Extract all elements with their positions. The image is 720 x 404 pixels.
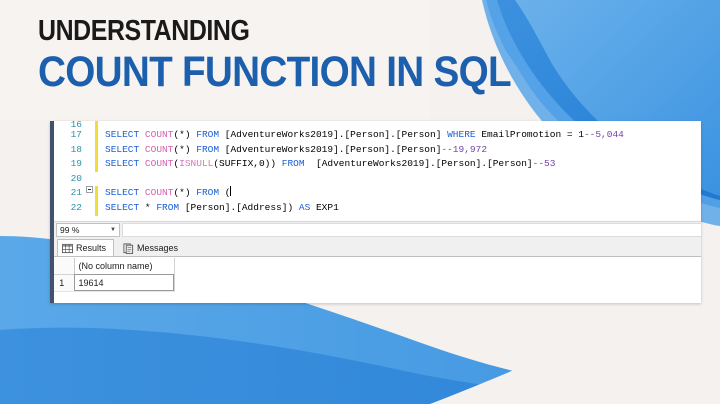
code-token: SELECT [105,144,145,155]
code-line[interactable]: 22SELECT * FROM [Person].[Address]) AS E… [54,201,701,216]
chevron-down-icon: ▼ [110,227,119,233]
zoom-level-value: 99 % [60,225,79,235]
tab-messages-label: Messages [137,243,178,253]
slide-canvas: UNDERSTANDING COUNT FUNCTION IN SQL 1617… [0,0,720,404]
code-token: SELECT [105,158,145,169]
tab-messages[interactable]: Messages [118,239,186,256]
code-token: --53 [533,158,556,169]
tab-results-label: Results [76,243,106,253]
code-token: EmailPromotion = 1 [481,129,584,140]
code-line[interactable]: 17SELECT COUNT(*) FROM [AdventureWorks20… [54,128,701,143]
code-line[interactable]: 16 [54,121,701,128]
code-token: (*) [173,144,196,155]
code-token: COUNT [145,129,174,140]
title-headline: COUNT FUNCTION IN SQL [38,50,511,96]
code-text: SELECT COUNT(*) FROM ( [98,186,701,201]
grid-header-row: (No column name) [50,258,174,274]
tab-results[interactable]: Results [57,239,114,256]
code-token: FROM [196,129,225,140]
code-token: SELECT [105,187,145,198]
code-token: ISNULL [179,158,213,169]
code-token: FROM [156,202,185,213]
code-text: SELECT COUNT(ISNULL(SUFFIX,0)) FROM [Adv… [98,157,701,172]
results-grid[interactable]: (No column name) 119614 [50,258,175,292]
change-indicator-bar [95,121,98,128]
code-token: [Person].[Address]) [185,202,299,213]
code-token: FROM [196,187,225,198]
line-number: 21 [64,186,84,201]
line-number: 19 [64,157,84,172]
line-number: 18 [64,143,84,158]
code-text: SELECT COUNT(*) FROM [AdventureWorks2019… [98,143,701,158]
grid-icon [62,243,73,254]
results-grid-wrapper[interactable]: (No column name) 119614 [50,257,701,303]
results-tabstrip: Results Messages [50,238,701,257]
line-number: 17 [64,128,84,143]
zoom-level-dropdown[interactable]: 99 % ▼ [56,223,120,237]
line-number: 16 [64,121,84,128]
code-token: EXP1 [316,202,339,213]
code-token: (SUFFIX,0)) [213,158,281,169]
code-token: COUNT [145,158,174,169]
change-indicator-bar [95,172,98,187]
line-number: 22 [64,201,84,216]
code-token: SELECT [105,129,145,140]
code-token: (*) [173,187,196,198]
sql-code-editor[interactable]: 1617SELECT COUNT(*) FROM [AdventureWorks… [50,121,701,221]
grid-column-header[interactable]: (No column name) [74,258,174,274]
line-number: 20 [64,172,84,187]
messages-icon [123,243,134,254]
code-token: AS [299,202,316,213]
editor-zoom-bar: 99 % ▼ [50,221,701,238]
minus-square-icon [86,186,93,193]
code-token: (*) [173,129,196,140]
collapse-toggle[interactable] [84,186,95,193]
code-token: * [145,202,156,213]
panel-left-rail [50,121,54,303]
code-line[interactable]: 18SELECT COUNT(*) FROM [AdventureWorks20… [54,143,701,158]
code-token: WHERE [447,129,481,140]
code-token: COUNT [145,144,174,155]
code-token: --19,972 [441,144,487,155]
horizontal-scroll-track[interactable] [122,223,701,237]
code-line[interactable]: 19SELECT COUNT(ISNULL(SUFFIX,0)) FROM [A… [54,157,701,172]
code-token: [AdventureWorks2019].[Person].[Person] [310,158,532,169]
code-text: SELECT * FROM [Person].[Address]) AS EXP… [98,201,701,216]
code-text: SELECT COUNT(*) FROM [AdventureWorks2019… [98,128,701,143]
grid-cell[interactable]: 19614 [74,274,174,291]
title-block: UNDERSTANDING COUNT FUNCTION IN SQL [38,16,563,96]
title-kicker: UNDERSTANDING [38,16,490,46]
text-caret [230,186,231,196]
code-line[interactable]: 20 [54,172,701,187]
code-token: [AdventureWorks2019].[Person].[Person] [225,129,447,140]
ssms-screenshot-panel: 1617SELECT COUNT(*) FROM [AdventureWorks… [50,121,701,303]
code-token: SELECT [105,202,145,213]
table-row[interactable]: 119614 [50,274,174,291]
code-token: --5,044 [584,129,624,140]
code-token: FROM [282,158,311,169]
code-token: FROM [196,144,225,155]
code-token: COUNT [145,187,174,198]
code-line[interactable]: 21SELECT COUNT(*) FROM ( [54,186,701,201]
code-token: [AdventureWorks2019].[Person].[Person] [225,144,442,155]
